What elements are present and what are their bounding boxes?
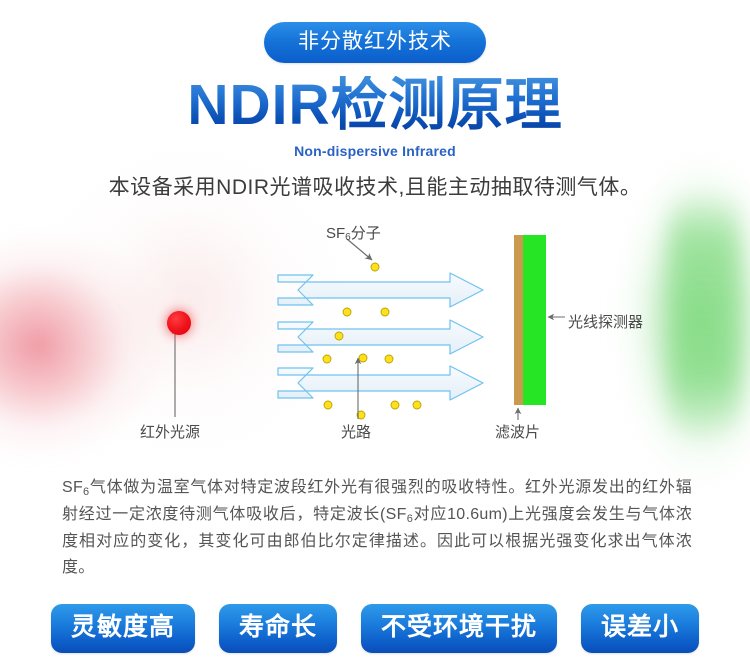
label-light-detector: 光线探测器 xyxy=(568,311,643,332)
label-sf6-subscript: 6 xyxy=(345,232,351,243)
label-optical-filter: 滤波片 xyxy=(495,421,540,442)
page-subtitle: Non-dispersive Infrared xyxy=(0,143,750,159)
paragraph-subscript-2: 6 xyxy=(407,513,413,525)
paragraph-subscript-1: 6 xyxy=(83,486,89,498)
feature-button-sensitivity[interactable]: 灵敏度高 xyxy=(51,604,195,653)
infrared-source-dot xyxy=(167,311,191,335)
technology-badge: 非分散红外技术 xyxy=(264,22,486,63)
light-beam-arrow-2 xyxy=(278,320,483,354)
principle-paragraph: SF6气体做为温室气体对特定波段红外光有很强烈的吸收特性。红外光源发出的红外辐射… xyxy=(62,475,692,581)
ndir-principle-page: 非分散红外技术 NDIR检测原理 Non-dispersive Infrared… xyxy=(0,0,750,669)
light-detector-bar xyxy=(523,235,546,405)
ndir-diagram xyxy=(0,212,750,452)
page-title: NDIR检测原理 xyxy=(0,76,750,136)
label-sf6-suffix: 分子 xyxy=(351,225,381,242)
light-beam-arrow-1 xyxy=(278,273,483,307)
light-beam-arrow-3 xyxy=(278,366,483,400)
feature-button-row: 灵敏度高 寿命长 不受环境干扰 误差小 xyxy=(0,604,750,653)
label-sf6-molecule: SF6分子 xyxy=(326,222,381,243)
feature-button-lifespan[interactable]: 寿命长 xyxy=(219,604,337,653)
label-sf6-prefix: SF xyxy=(326,225,345,242)
feature-button-interference[interactable]: 不受环境干扰 xyxy=(361,604,557,653)
lead-description: 本设备采用NDIR光谱吸收技术,且能主动抽取待测气体。 xyxy=(0,171,750,201)
feature-button-error[interactable]: 误差小 xyxy=(581,604,699,653)
paragraph-segment-1: SF xyxy=(62,479,83,496)
label-light-source: 红外光源 xyxy=(140,421,200,442)
label-light-path: 光路 xyxy=(341,421,371,442)
optical-filter-bar xyxy=(514,235,523,405)
diagram-svg xyxy=(0,212,750,452)
